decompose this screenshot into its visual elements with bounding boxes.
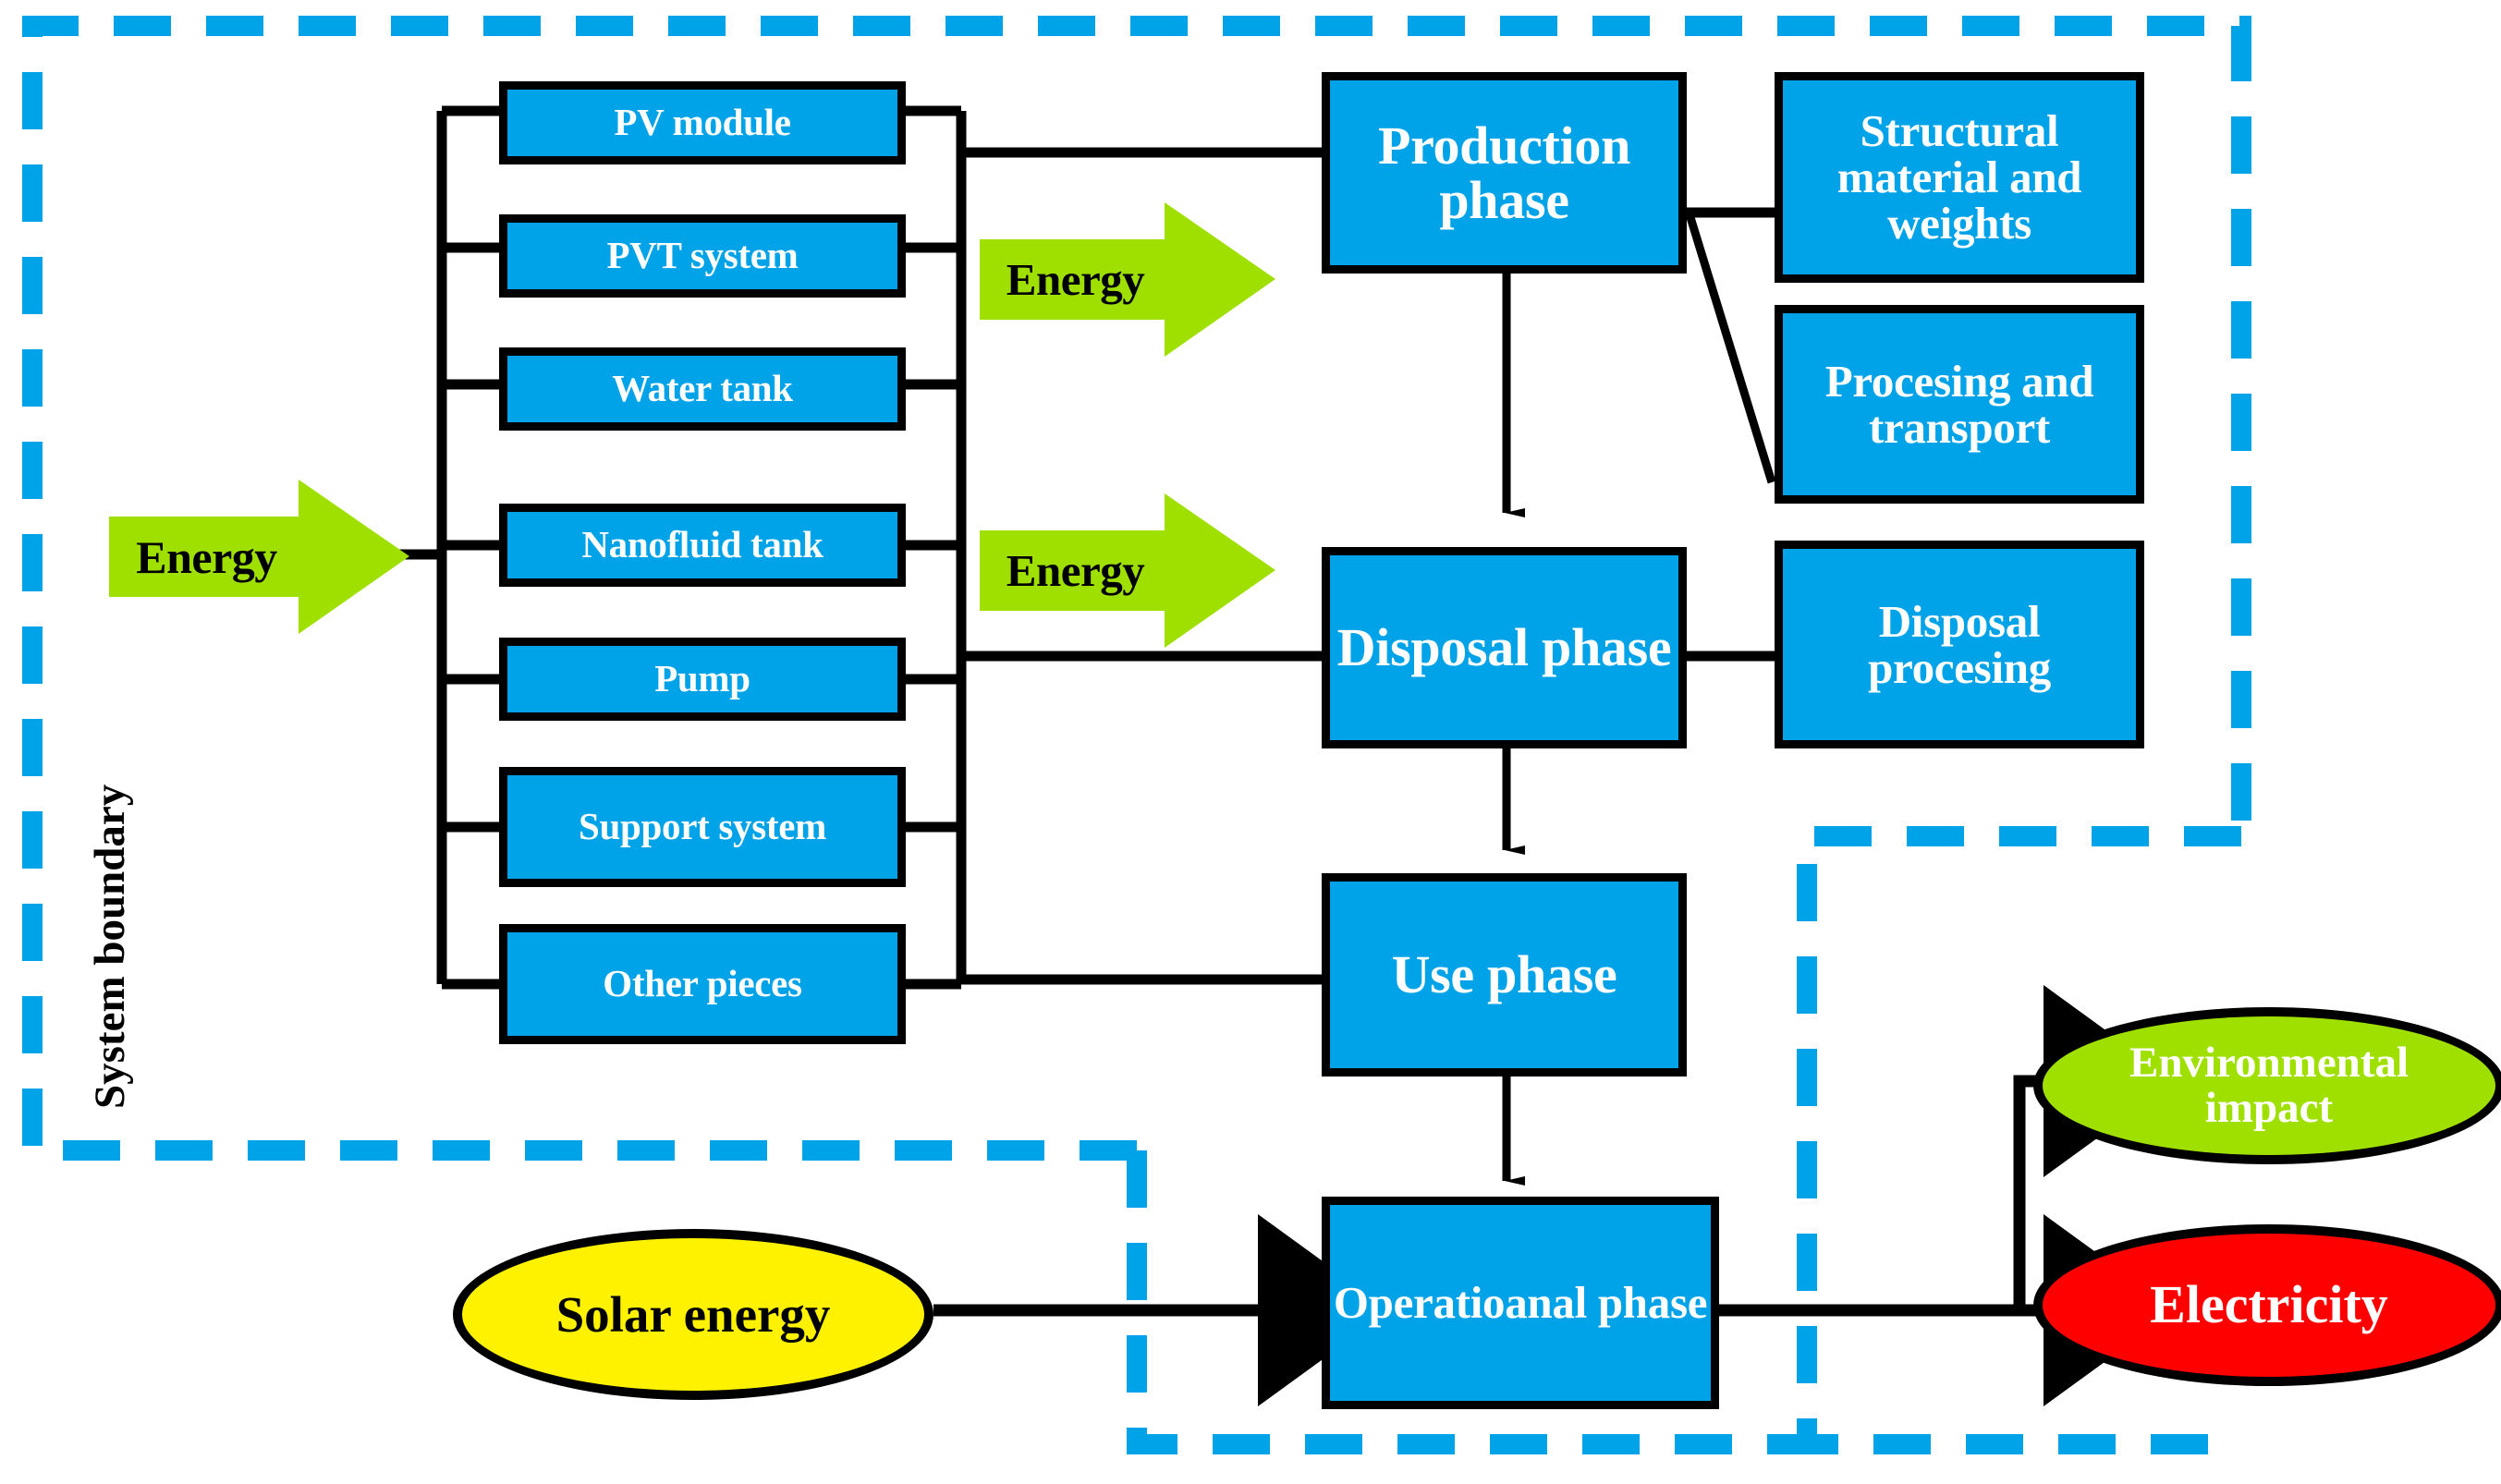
energy-arrow-label: Energy <box>980 490 1275 651</box>
component-box-other-pieces[interactable]: Other pieces <box>499 924 906 1044</box>
link-production-processing <box>1690 214 1772 482</box>
energy-arrow-input: Energy <box>109 476 409 638</box>
component-box-support-system[interactable]: Support system <box>499 767 906 887</box>
output-oval-electricity[interactable]: Electricity <box>2033 1224 2501 1386</box>
component-label: Nanofluid tank <box>581 526 823 565</box>
inventory-box-processing-transport[interactable]: Procesing and transport <box>1775 305 2144 504</box>
phase-label: Operatioanal phase <box>1334 1280 1707 1326</box>
component-label: Support system <box>579 808 826 846</box>
component-box-pvt-system[interactable]: PVT system <box>499 214 906 298</box>
phase-box-use[interactable]: Use phase <box>1322 873 1687 1077</box>
phase-box-production[interactable]: Production phase <box>1322 72 1687 274</box>
system-boundary-label: System boundary <box>85 785 135 1109</box>
oval-label: Electricity <box>2150 1277 2388 1333</box>
component-box-water-tank[interactable]: Water tank <box>499 347 906 431</box>
component-box-pv-module[interactable]: PV module <box>499 81 906 164</box>
phase-label: Use phase <box>1392 947 1617 1002</box>
energy-arrow-disposal: Energy <box>980 490 1275 651</box>
component-box-nanofluid-tank[interactable]: Nanofluid tank <box>499 504 906 587</box>
output-oval-environmental-impact[interactable]: Environmental impact <box>2033 1007 2501 1164</box>
oval-label: Solar energy <box>556 1288 831 1342</box>
oval-label: Environmental impact <box>2061 1040 2477 1132</box>
phase-box-disposal[interactable]: Disposal phase <box>1322 547 1687 748</box>
input-oval-solar-energy[interactable]: Solar energy <box>453 1229 933 1400</box>
component-label: Water tank <box>612 370 793 408</box>
inventory-box-disposal-processing[interactable]: Disposal procesing <box>1775 541 2144 748</box>
component-label: PV module <box>614 103 790 142</box>
inventory-label: Disposal procesing <box>1796 599 2123 691</box>
energy-arrow-label: Energy <box>109 476 409 638</box>
inventory-label: Structural material and weights <box>1796 108 2123 247</box>
phase-box-operational[interactable]: Operatioanal phase <box>1322 1197 1719 1409</box>
component-label: Pump <box>654 660 750 699</box>
phase-label: Production phase <box>1330 118 1678 227</box>
energy-arrow-label: Energy <box>980 199 1275 360</box>
inventory-label: Procesing and transport <box>1796 359 2123 451</box>
inventory-box-structural-material[interactable]: Structural material and weights <box>1775 72 2144 283</box>
energy-arrow-production: Energy <box>980 199 1275 360</box>
component-label: PVT system <box>607 237 799 275</box>
diagram-canvas: System boundary Energy Energy Energy PV … <box>0 0 2501 1484</box>
component-label: Other pieces <box>603 965 801 1004</box>
arrow-branch-environmental <box>2019 1081 2033 1310</box>
component-box-pump[interactable]: Pump <box>499 638 906 721</box>
phase-label: Disposal phase <box>1337 620 1672 675</box>
